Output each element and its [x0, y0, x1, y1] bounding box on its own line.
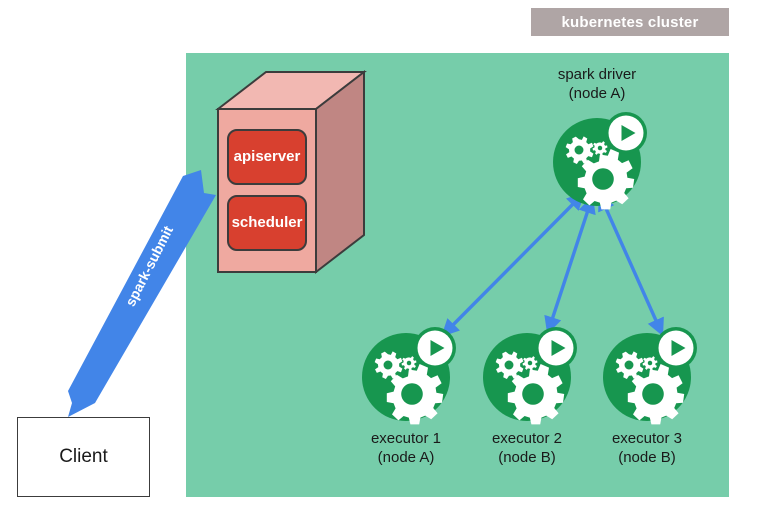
diagram-canvas: kubernetes cluster apiserver scheduler s… — [0, 0, 761, 516]
executor-3-caption-line2: (node B) — [567, 448, 727, 467]
executor-3-caption: executor 3 (node B) — [567, 429, 727, 467]
spark-driver-caption: spark driver (node A) — [497, 65, 697, 103]
control-plane-cube — [218, 72, 364, 272]
client-label: Client — [59, 446, 108, 468]
apiserver-label: apiserver — [228, 148, 306, 165]
kubernetes-cluster-badge: kubernetes cluster — [531, 8, 729, 36]
client-box[interactable]: Client — [17, 417, 150, 497]
kubernetes-cluster-badge-label: kubernetes cluster — [562, 14, 699, 31]
executor-3-caption-line1: executor 3 — [567, 429, 727, 448]
spark-driver-caption-line2: (node A) — [497, 84, 697, 103]
spark-driver-caption-line1: spark driver — [497, 65, 697, 84]
scheduler-label: scheduler — [228, 214, 306, 231]
